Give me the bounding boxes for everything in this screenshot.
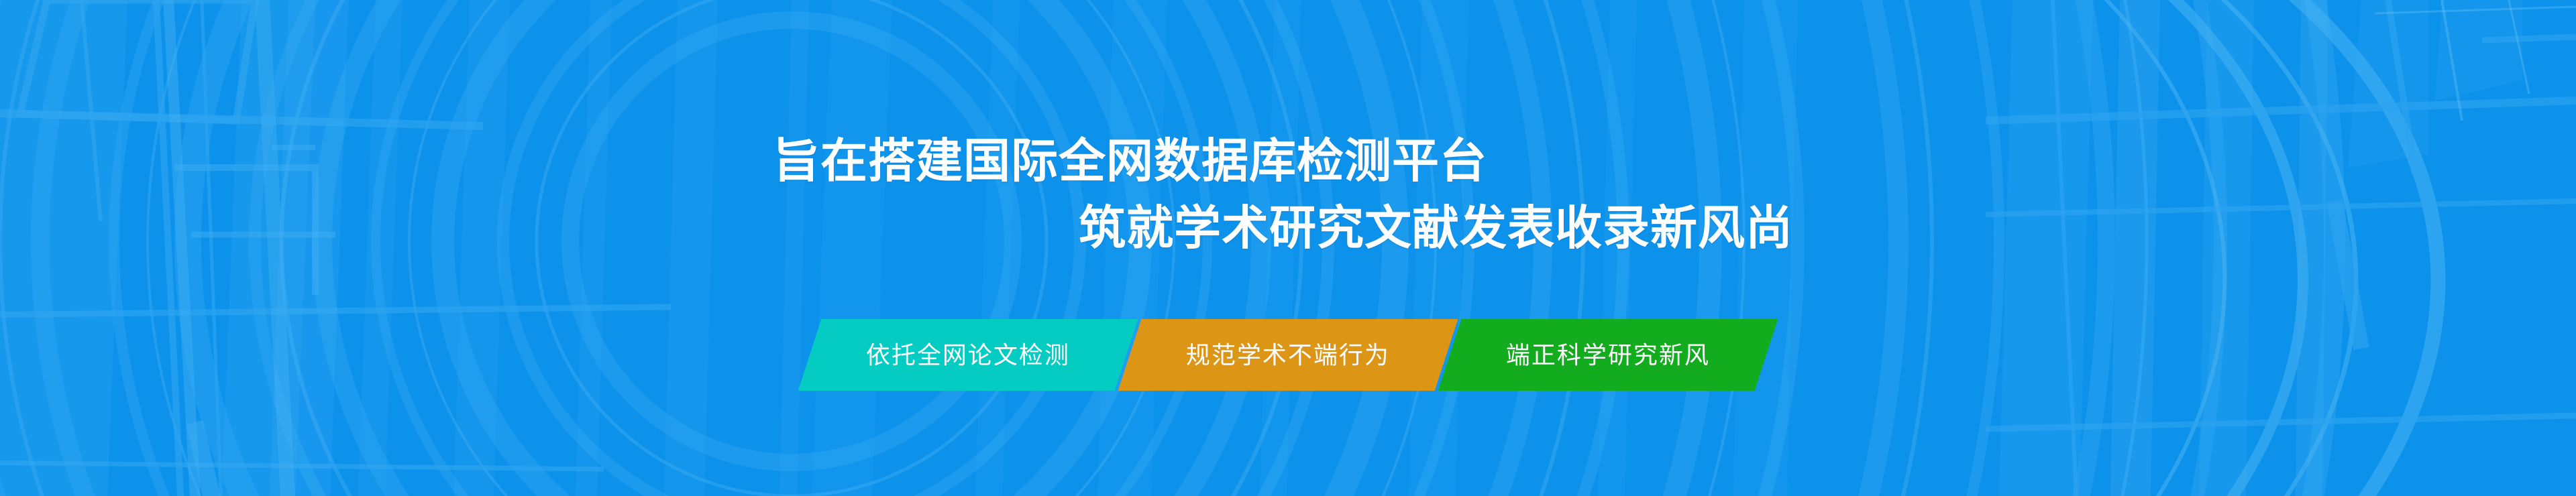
feature-tag-band: 依托全网论文检测 规范学术不端行为 端正科学研究新风 [0,319,2576,391]
feature-tag-3-label: 端正科学研究新风 [1506,343,1710,367]
feature-tag-2-label: 规范学术不端行为 [1186,343,1390,367]
headline-line-2: 筑就学术研究文献发表收录新风尚 [1079,194,2576,261]
headline-line-1: 旨在搭建国际全网数据库检测平台 [773,127,2576,194]
feature-tag-3[interactable]: 端正科学研究新风 [1438,319,1778,391]
promo-banner: 旨在搭建国际全网数据库检测平台 筑就学术研究文献发表收录新风尚 依托全网论文检测… [0,0,2576,496]
headline-group: 旨在搭建国际全网数据库检测平台 筑就学术研究文献发表收录新风尚 [0,127,2576,261]
feature-tag-2[interactable]: 规范学术不端行为 [1118,319,1458,391]
feature-tag-1-label: 依托全网论文检测 [866,343,1070,367]
feature-tag-1[interactable]: 依托全网论文检测 [798,319,1138,391]
